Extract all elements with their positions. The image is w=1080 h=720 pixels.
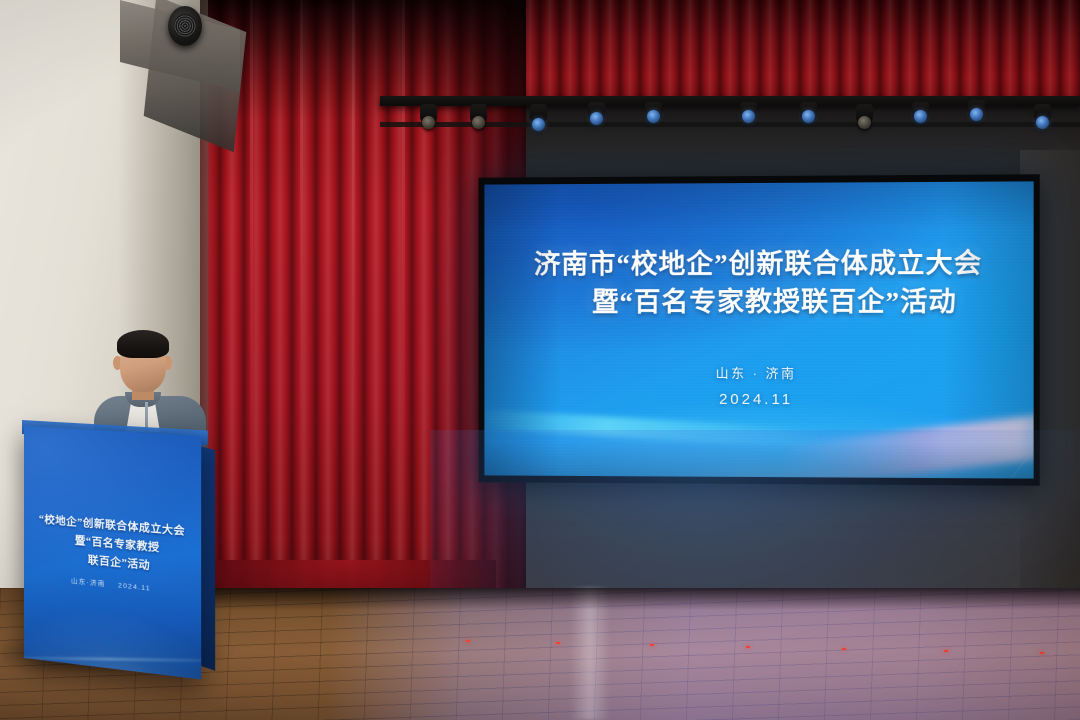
screen-title-line-2: 暨“百名专家教授联百企”活动: [534, 283, 982, 322]
stage-edge-led: [944, 650, 948, 652]
screen-title: 济南市“校地企”创新联合体成立大会 暨“百名专家教授联百企”活动: [534, 244, 982, 321]
lighting-truss-lower: [380, 122, 1080, 127]
led-screen-frame: 济南市“校地企”创新联合体成立大会 暨“百名专家教授联百企”活动 山东 · 济南…: [479, 174, 1040, 485]
stage-light-icon: [422, 116, 435, 129]
podium: “校地企”创新联合体成立大会 暨“百名专家教授 联百企”活动 山东·济南2024…: [8, 412, 218, 674]
screen-title-line-1: 济南市“校地企”创新联合体成立大会: [534, 248, 982, 279]
stage-light-icon: [802, 110, 815, 123]
stage-light-icon: [1036, 116, 1049, 129]
stage-edge-led: [650, 644, 654, 646]
stage-light-icon: [970, 108, 983, 121]
screen-subtitle: 山东 · 济南 2024.11: [716, 362, 797, 414]
stage-edge-led: [1040, 652, 1044, 654]
stage-light-icon: [472, 116, 485, 129]
stage-edge-led: [842, 648, 846, 650]
podium-front-panel: “校地企”创新联合体成立大会 暨“百名专家教授 联百企”活动 山东·济南2024…: [24, 426, 201, 680]
conference-stage-photo: 济南市“校地企”创新联合体成立大会 暨“百名专家教授联百企”活动 山东 · 济南…: [0, 0, 1080, 720]
screen-content: 济南市“校地企”创新联合体成立大会 暨“百名专家教授联百企”活动 山东 · 济南…: [484, 181, 1033, 478]
led-screen: 济南市“校地企”创新联合体成立大会 暨“百名专家教授联百企”活动 山东 · 济南…: [484, 181, 1033, 478]
stage-light-icon: [532, 118, 545, 131]
presenter-hair: [117, 330, 169, 358]
podium-sign-location: 山东·济南: [71, 578, 106, 589]
screen-subtitle-location: 山东 · 济南: [716, 362, 797, 386]
screen-subtitle-date: 2024.11: [716, 386, 797, 414]
podium-glow-decor: [24, 599, 201, 680]
stage-curtain-upper: [520, 0, 1080, 104]
stage-edge-led: [556, 642, 560, 644]
stage-light-icon: [914, 110, 927, 123]
stage-edge-led: [746, 646, 750, 648]
podium-sign-date: 2024.11: [118, 582, 151, 592]
stage-light-icon: [858, 116, 871, 129]
ceiling-speaker-icon: [168, 6, 202, 46]
podium-sign-text: “校地企”创新联合体成立大会 暨“百名专家教授 联百企”活动: [24, 510, 201, 581]
stage-light-icon: [647, 110, 660, 123]
stage-edge-led: [466, 640, 470, 642]
stage-light-icon: [590, 112, 603, 125]
stage-floor-edge-shadow: [196, 588, 1080, 610]
stage-light-icon: [742, 110, 755, 123]
